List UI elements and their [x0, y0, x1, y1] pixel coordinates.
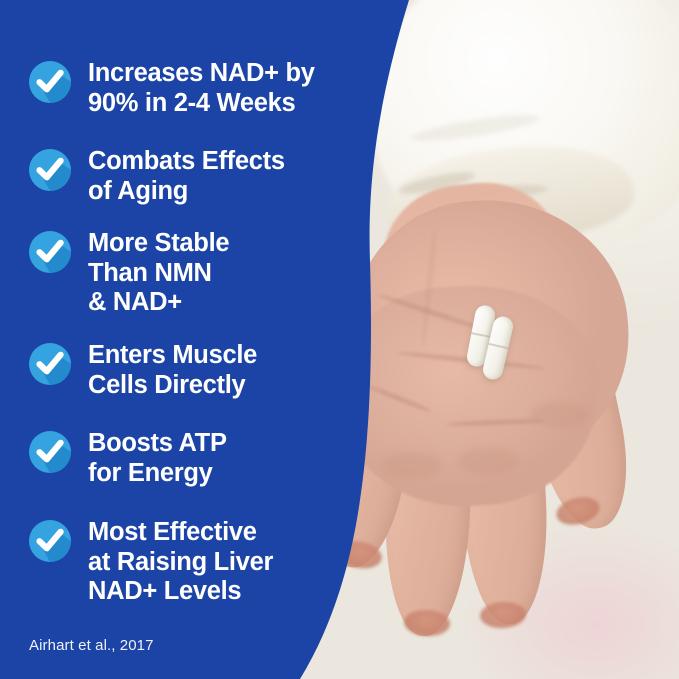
knuckle — [458, 448, 518, 474]
fingertip — [479, 601, 526, 629]
benefits-list: Increases NAD+ by 90% in 2-4 Weeks Comba… — [0, 0, 360, 679]
benefit-label: Combats Effects of Aging — [88, 147, 285, 206]
knuckle — [530, 402, 588, 428]
benefit-item-5: Boosts ATP for Energy — [28, 428, 227, 488]
open-hand — [330, 190, 670, 660]
benefit-item-6: Most Effective at Raising Liver NAD+ Lev… — [28, 517, 273, 607]
benefit-item-4: Enters Muscle Cells Directly — [28, 340, 257, 400]
benefit-item-1: Increases NAD+ by 90% in 2-4 Weeks — [28, 58, 315, 118]
benefit-label: Boosts ATP for Energy — [88, 429, 227, 488]
capsule-seam — [488, 343, 508, 349]
benefit-label: Most Effective at Raising Liver NAD+ Lev… — [88, 518, 273, 607]
infographic-canvas: Increases NAD+ by 90% in 2-4 Weeks Comba… — [0, 0, 679, 679]
check-circle-icon — [28, 430, 72, 474]
benefit-label: Increases NAD+ by 90% in 2-4 Weeks — [88, 59, 315, 118]
check-circle-icon — [28, 148, 72, 192]
check-circle-icon — [28, 60, 72, 104]
benefit-item-3: More Stable Than NMN & NAD+ — [28, 228, 229, 318]
check-circle-icon — [28, 519, 72, 563]
benefit-label: More Stable Than NMN & NAD+ — [88, 229, 229, 318]
knuckle — [382, 452, 442, 478]
benefit-item-2: Combats Effects of Aging — [28, 146, 285, 206]
capsule-seam — [471, 332, 491, 338]
citation-text: Airhart et al., 2017 — [29, 637, 154, 654]
check-circle-icon — [28, 230, 72, 274]
check-circle-icon — [28, 342, 72, 386]
benefit-label: Enters Muscle Cells Directly — [88, 341, 257, 400]
